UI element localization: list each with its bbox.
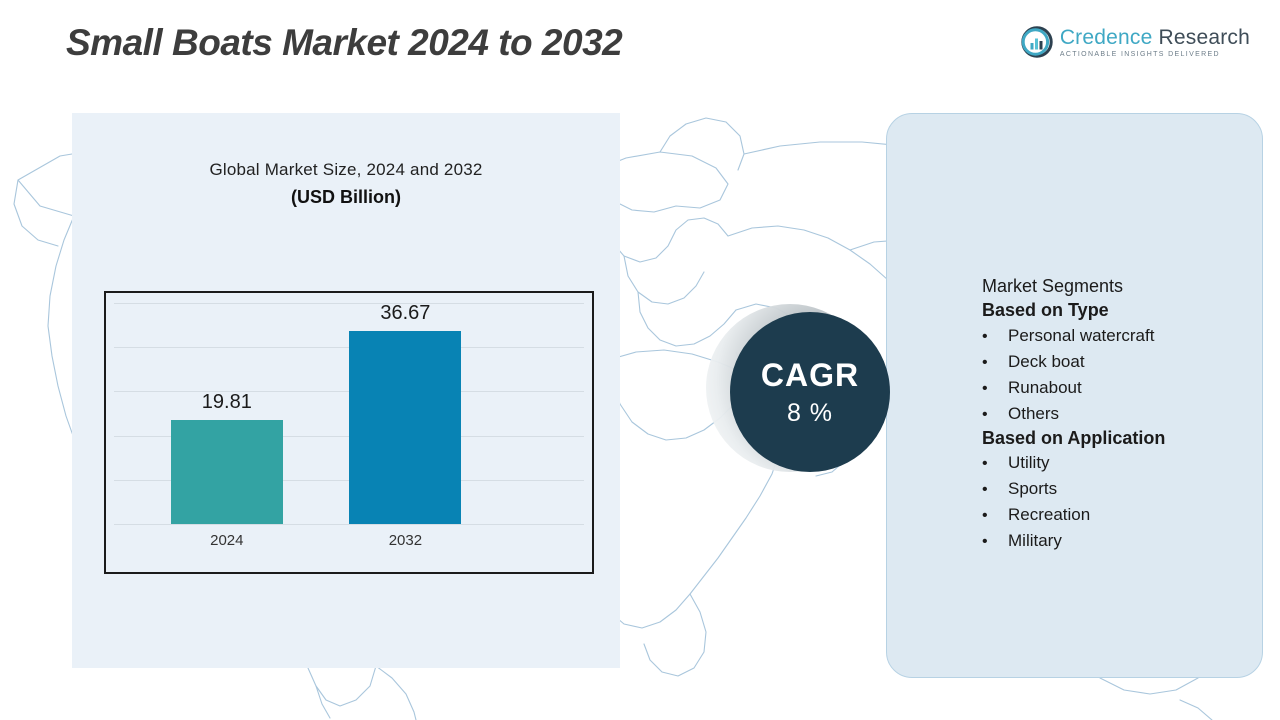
bar-value-label: 36.67 bbox=[325, 302, 485, 325]
market-segments: Market Segments Based on Type•Personal w… bbox=[982, 275, 1252, 554]
cagr-label: CAGR bbox=[761, 359, 859, 391]
list-item: •Deck boat bbox=[982, 349, 1252, 375]
segment-groups: Based on Type•Personal watercraft•Deck b… bbox=[982, 299, 1252, 555]
bar-2032 bbox=[349, 331, 461, 524]
segment-item-label: Deck boat bbox=[1008, 353, 1085, 370]
bullet-icon: • bbox=[982, 407, 1008, 423]
logo-text: Credence Research Actionable Insights De… bbox=[1060, 27, 1250, 58]
infographic-canvas: Small Boats Market 2024 to 2032 Credence… bbox=[0, 0, 1280, 720]
segment-item-label: Personal watercraft bbox=[1008, 327, 1154, 344]
gridline bbox=[114, 524, 584, 525]
bar-chart: 19.8136.67 20242032 bbox=[104, 291, 594, 574]
chart-x-axis-labels: 20242032 bbox=[114, 532, 584, 558]
logo-name-part1: Credence bbox=[1060, 26, 1153, 49]
chart-bars: 19.8136.67 bbox=[114, 303, 584, 524]
list-item: •Military bbox=[982, 528, 1252, 554]
segment-item-label: Others bbox=[1008, 405, 1059, 422]
bar-2024 bbox=[171, 420, 283, 524]
logo-tagline: Actionable Insights Delivered bbox=[1060, 51, 1250, 58]
list-item: •Personal watercraft bbox=[982, 323, 1252, 349]
segments-title: Market Segments bbox=[982, 275, 1252, 299]
list-item: •Others bbox=[982, 401, 1252, 427]
segment-item-label: Sports bbox=[1008, 480, 1057, 497]
brand-logo: Credence Research Actionable Insights De… bbox=[1021, 26, 1250, 58]
x-axis-label: 2024 bbox=[147, 532, 307, 549]
list-item: •Runabout bbox=[982, 375, 1252, 401]
logo-name-part2: Research bbox=[1159, 26, 1250, 49]
segment-group-title: Based on Application bbox=[982, 427, 1252, 451]
cagr-circle: CAGR 8 % bbox=[730, 312, 890, 472]
bullet-icon: • bbox=[982, 329, 1008, 345]
chart-heading: Global Market Size, 2024 and 2032 (USD B… bbox=[72, 160, 620, 208]
bullet-icon: • bbox=[982, 482, 1008, 498]
segment-item-label: Runabout bbox=[1008, 379, 1082, 396]
list-item: •Utility bbox=[982, 450, 1252, 476]
logo-name: Credence Research bbox=[1060, 27, 1250, 48]
list-item: •Recreation bbox=[982, 502, 1252, 528]
bullet-icon: • bbox=[982, 456, 1008, 472]
cagr-badge: CAGR 8 % bbox=[700, 300, 900, 485]
segment-item-label: Utility bbox=[1008, 454, 1050, 471]
list-item: •Sports bbox=[982, 476, 1252, 502]
chart-heading-line1: Global Market Size, 2024 and 2032 bbox=[72, 160, 620, 180]
bar-value-label: 19.81 bbox=[147, 391, 307, 414]
chart-plot-area: 19.8136.67 20242032 bbox=[106, 293, 592, 572]
bullet-icon: • bbox=[982, 508, 1008, 524]
bullet-icon: • bbox=[982, 534, 1008, 550]
bullet-icon: • bbox=[982, 355, 1008, 371]
circle-bar-chart-icon bbox=[1021, 26, 1053, 58]
segment-group-title: Based on Type bbox=[982, 299, 1252, 323]
bar-slot: 36.67 bbox=[349, 303, 461, 524]
cagr-value: 8 % bbox=[787, 401, 833, 426]
segment-item-label: Recreation bbox=[1008, 506, 1090, 523]
x-axis-label: 2032 bbox=[325, 532, 485, 549]
chart-heading-line2: (USD Billion) bbox=[72, 187, 620, 208]
segment-item-label: Military bbox=[1008, 532, 1062, 549]
page-title: Small Boats Market 2024 to 2032 bbox=[66, 22, 622, 64]
bar-slot: 19.81 bbox=[171, 303, 283, 524]
bullet-icon: • bbox=[982, 381, 1008, 397]
